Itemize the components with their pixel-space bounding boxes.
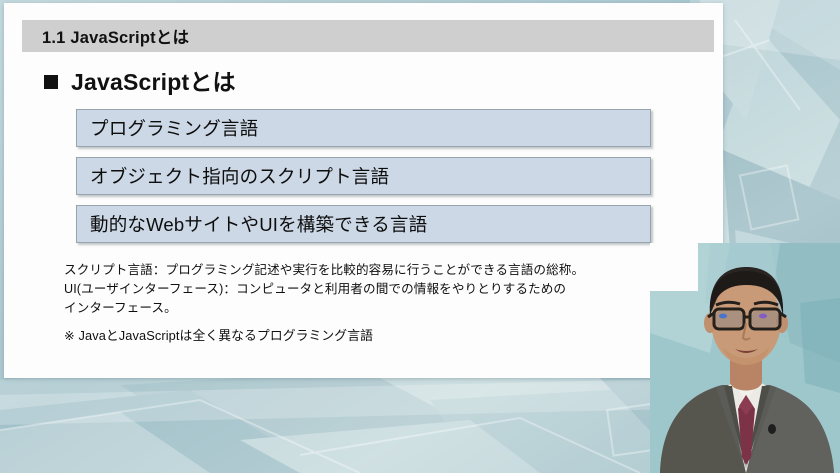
definition-box-text: 動的なWebサイトやUIを構築できる言語 [90, 211, 427, 237]
definition-box: オブジェクト指向のスクリプト言語 [76, 157, 651, 195]
footnote-line: インターフェース。 [64, 299, 714, 318]
presenter-figure [650, 243, 840, 473]
footnote-block: スクリプト言語：プログラミング記述や実行を比較的容易に行うことができる言語の総称… [64, 261, 714, 318]
slide-heading: JavaScriptとは [44, 63, 236, 97]
section-title-text: 1.1 JavaScriptとは [42, 24, 189, 48]
slide-panel: 1.1 JavaScriptとは JavaScriptとは プログラミング言語 … [4, 3, 723, 378]
definition-box-text: プログラミング言語 [90, 115, 258, 141]
footnote-line: スクリプト言語：プログラミング記述や実行を比較的容易に行うことができる言語の総称… [64, 261, 714, 280]
definition-box-text: オブジェクト指向のスクリプト言語 [90, 163, 389, 189]
definition-box-list: プログラミング言語 オブジェクト指向のスクリプト言語 動的なWebサイトやUIを… [76, 109, 651, 253]
footnote-line: UI(ユーザインターフェース)：コンピュータと利用者の間での情報をやりとりするた… [64, 280, 714, 299]
section-title-bar: 1.1 JavaScriptとは [22, 20, 714, 52]
caution-note: ※ JavaとJavaScriptは全く異なるプログラミング言語 [64, 325, 373, 344]
square-bullet-icon [44, 75, 58, 89]
definition-box: プログラミング言語 [76, 109, 651, 147]
definition-box: 動的なWebサイトやUIを構築できる言語 [76, 205, 651, 243]
slide-heading-text: JavaScriptとは [71, 63, 236, 97]
presenter-video-overlay [650, 243, 840, 473]
video-frame: 1.1 JavaScriptとは JavaScriptとは プログラミング言語 … [0, 0, 840, 473]
